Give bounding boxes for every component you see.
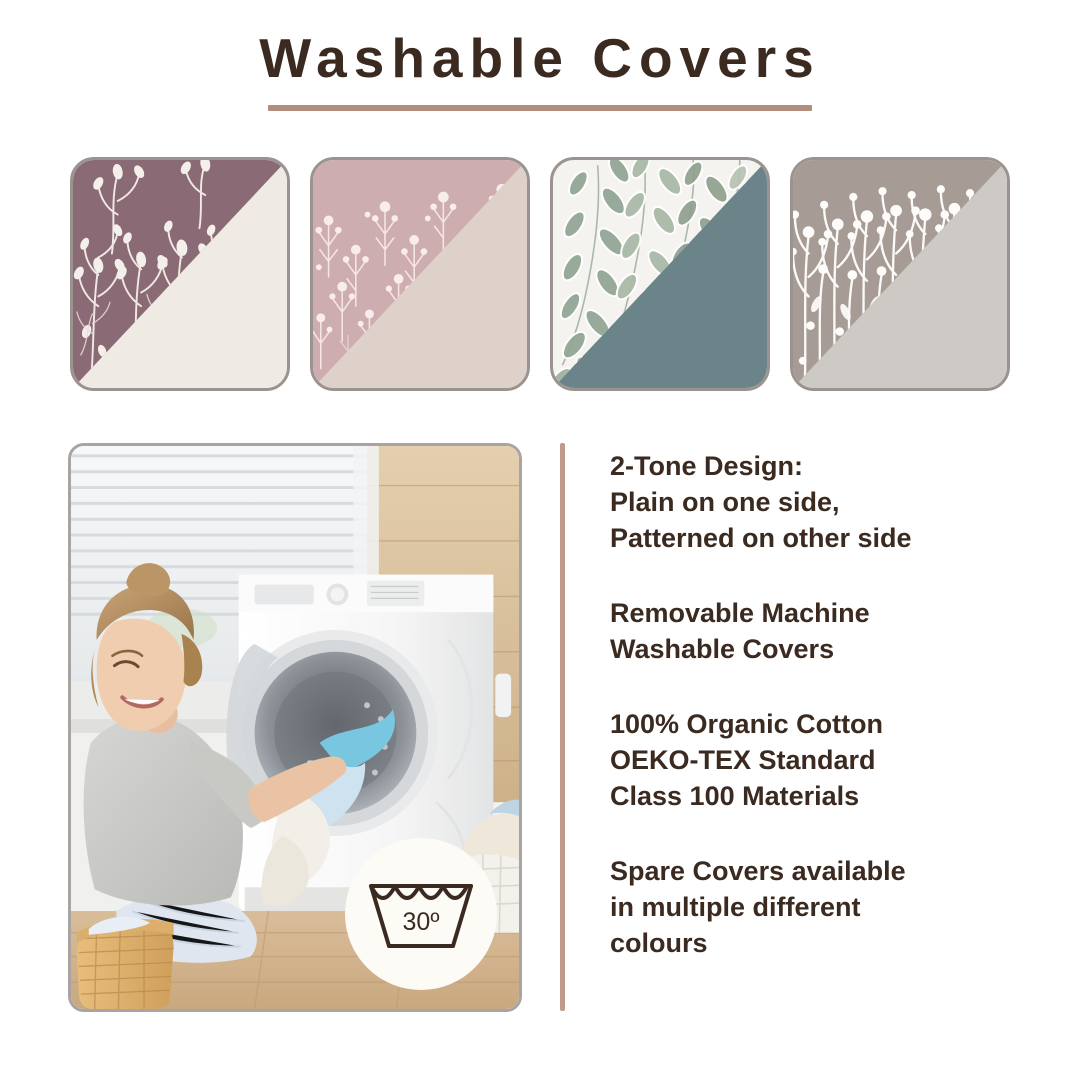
feature-line: Plain on one side, xyxy=(610,484,1030,520)
feature-removable-washable: Removable Machine Washable Covers xyxy=(610,595,1030,667)
feature-two-tone-design: 2-Tone Design: Plain on one side, Patter… xyxy=(610,448,1030,556)
feature-line: Patterned on other side xyxy=(610,520,1030,556)
wash-care-30-badge: 30º xyxy=(345,838,497,990)
feature-organic-cotton: 100% Organic Cotton OEKO-TEX Standard Cl… xyxy=(610,706,1030,814)
swatch-tile-taupe-meadow[interactable] xyxy=(790,157,1010,391)
feature-line: Removable Machine xyxy=(610,595,1030,631)
header: Washable Covers xyxy=(0,26,1080,111)
feature-line: colours xyxy=(610,925,1030,961)
swatch-row xyxy=(70,157,1010,391)
feature-line: Washable Covers xyxy=(610,631,1030,667)
swatch-tile-dusty-pink-wildflower[interactable] xyxy=(310,157,530,391)
feature-spare-covers: Spare Covers available in multiple diffe… xyxy=(610,853,1030,961)
feature-line: Class 100 Materials xyxy=(610,778,1030,814)
feature-line: 2-Tone Design: xyxy=(610,448,1030,484)
vertical-divider xyxy=(560,443,565,1011)
feature-list: 2-Tone Design: Plain on one side, Patter… xyxy=(610,448,1030,961)
page-title: Washable Covers xyxy=(0,26,1080,90)
feature-line: 100% Organic Cotton xyxy=(610,706,1030,742)
feature-line: in multiple different xyxy=(610,889,1030,925)
swatch-tile-sage-eucalyptus[interactable] xyxy=(550,157,770,391)
wash-temp-label: 30º xyxy=(403,908,440,936)
wash-tub-30-icon: 30º xyxy=(361,868,481,960)
swatch-tile-mauve-floral[interactable] xyxy=(70,157,290,391)
feature-line: Spare Covers available xyxy=(610,853,1030,889)
feature-line: OEKO-TEX Standard xyxy=(610,742,1030,778)
title-underline-rule xyxy=(268,105,812,111)
